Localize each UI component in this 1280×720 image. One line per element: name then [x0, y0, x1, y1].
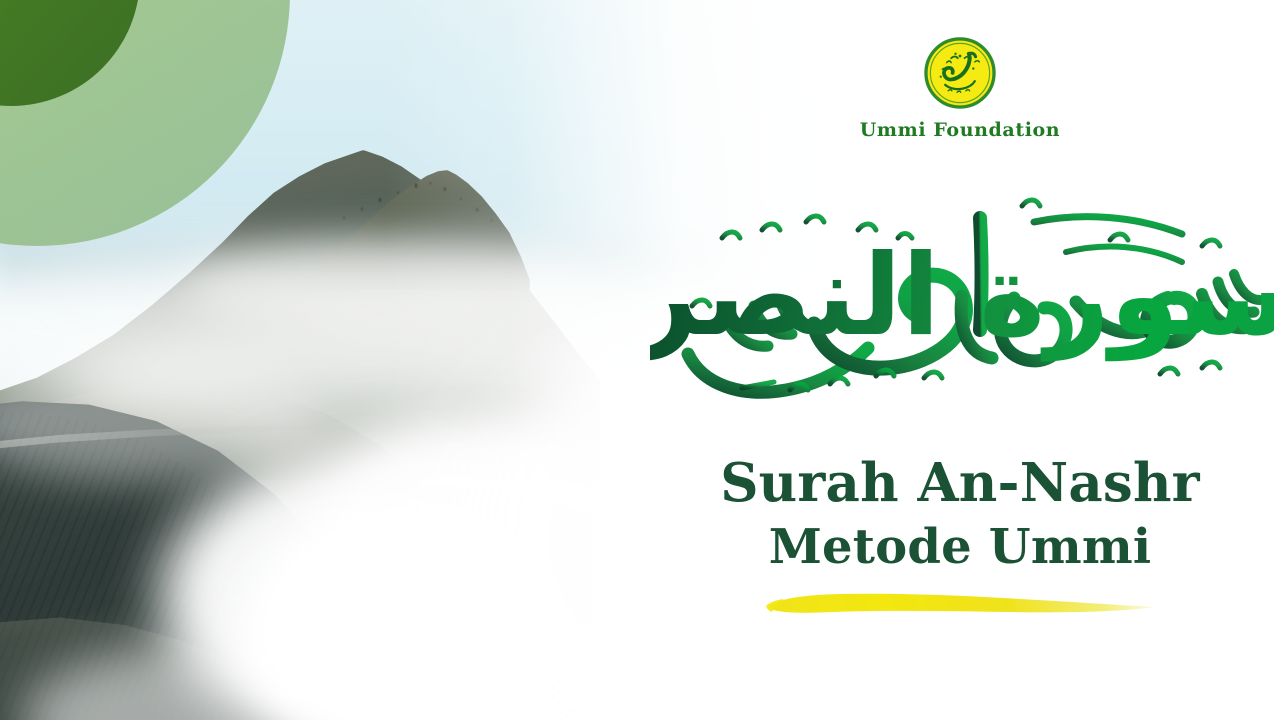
yellow-brush-stroke — [762, 586, 1162, 622]
brand-block: Ummi Foundation — [640, 36, 1280, 141]
thumbnail-canvas: Ummi Foundation سورة النصر — [0, 0, 1280, 720]
arabic-title: سورة النصر — [650, 178, 1274, 428]
content-panel: Ummi Foundation سورة النصر — [640, 0, 1280, 720]
brand-name: Ummi Foundation — [640, 119, 1280, 141]
page-title: Surah An-Nashr — [640, 452, 1280, 514]
ummi-foundation-seal-icon — [923, 36, 997, 110]
arabic-title-text: سورة النصر — [650, 178, 1274, 428]
page-subtitle: Metode Ummi — [640, 519, 1280, 575]
